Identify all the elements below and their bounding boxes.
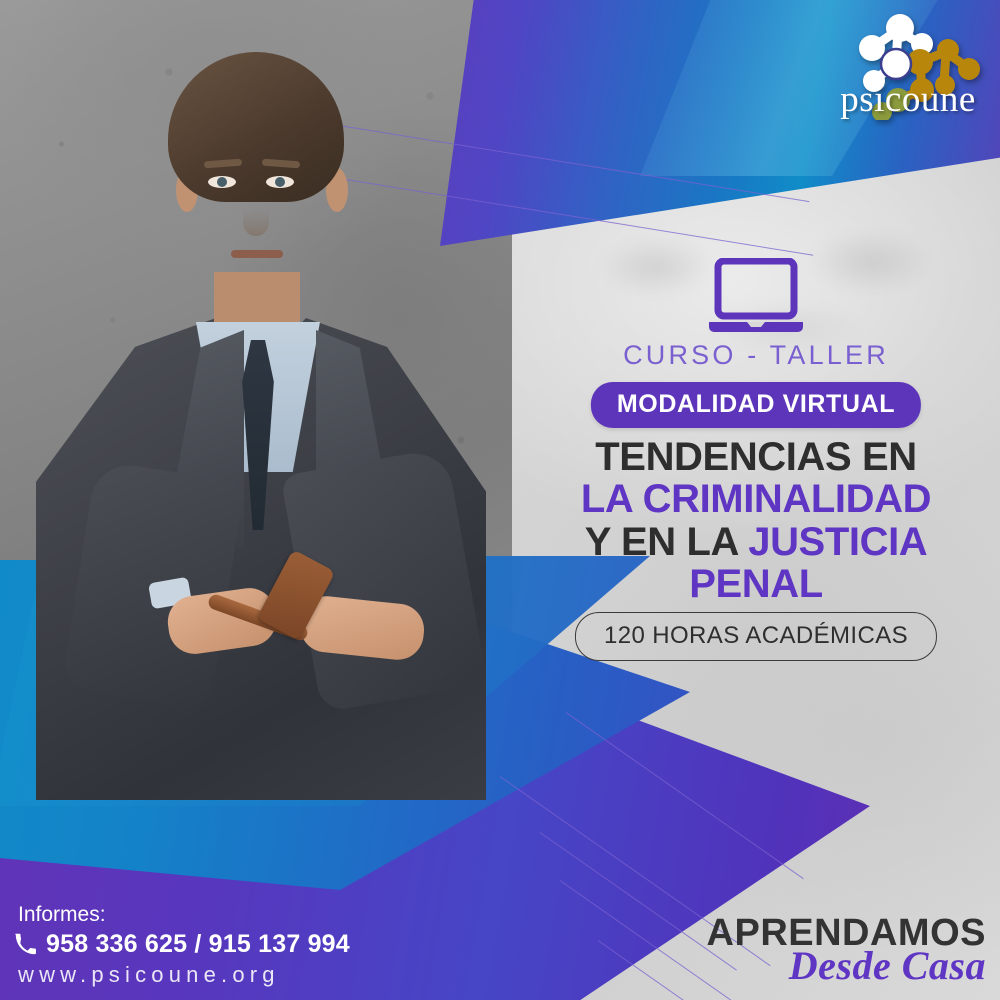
promotional-poster: psicoune CURSO - TALLER MODALIDAD VIRTUA… [0, 0, 1000, 1000]
website-url[interactable]: www.psicoune.org [18, 962, 280, 988]
photo-eye-right [266, 176, 294, 188]
photo-mouth [231, 250, 283, 258]
hours-pill: 120 HORAS ACADÉMICAS [575, 612, 937, 661]
contact-label: Informes: [18, 903, 106, 927]
phone-icon [14, 933, 37, 956]
course-title: TENDENCIAS EN LA CRIMINALIDAD Y EN LA JU… [512, 436, 1000, 606]
laptop-icon-wrapper [707, 258, 805, 336]
title-line-3: Y EN LA JUSTICIA [512, 521, 1000, 563]
title-line-2: LA CRIMINALIDAD [512, 478, 1000, 520]
phone-numbers: 958 336 625 / 915 137 994 [46, 930, 350, 959]
hero-photo [0, 0, 512, 800]
course-kicker: CURSO - TALLER [512, 340, 1000, 371]
photo-face [186, 86, 328, 292]
photo-eye-left [208, 176, 236, 188]
title-line-4: PENAL [512, 563, 1000, 605]
contact-phone-row[interactable]: 958 336 625 / 915 137 994 [14, 930, 350, 959]
course-info-panel: CURSO - TALLER MODALIDAD VIRTUAL TENDENC… [512, 0, 1000, 1000]
title-line-1: TENDENCIAS EN [512, 436, 1000, 478]
laptop-icon [707, 258, 805, 336]
modality-badge: MODALIDAD VIRTUAL [591, 382, 921, 428]
tagline: APRENDAMOS Desde Casa [707, 914, 986, 986]
photo-nose [243, 192, 269, 236]
